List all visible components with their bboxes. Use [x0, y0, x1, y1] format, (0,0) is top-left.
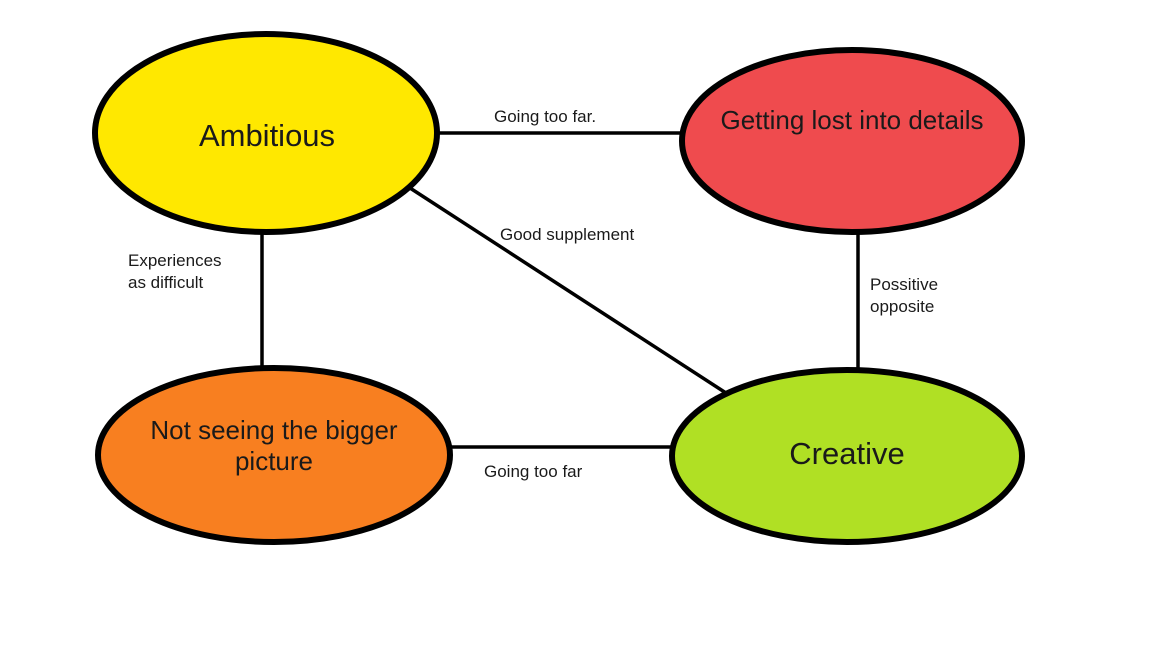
diagram-shapes-layer: [0, 0, 1152, 648]
edge-line-ambitious-creative[interactable]: [410, 188, 726, 393]
node-ellipse-creative[interactable]: [672, 370, 1022, 542]
node-shapes-group: [95, 34, 1022, 542]
node-ellipse-getting-lost-into-details[interactable]: [682, 50, 1022, 232]
node-ellipse-not-seeing-the-bigger-picture[interactable]: [98, 368, 450, 542]
diagram-canvas: Ambitious Getting lost into details Not …: [0, 0, 1152, 648]
node-ellipse-ambitious[interactable]: [95, 34, 437, 232]
